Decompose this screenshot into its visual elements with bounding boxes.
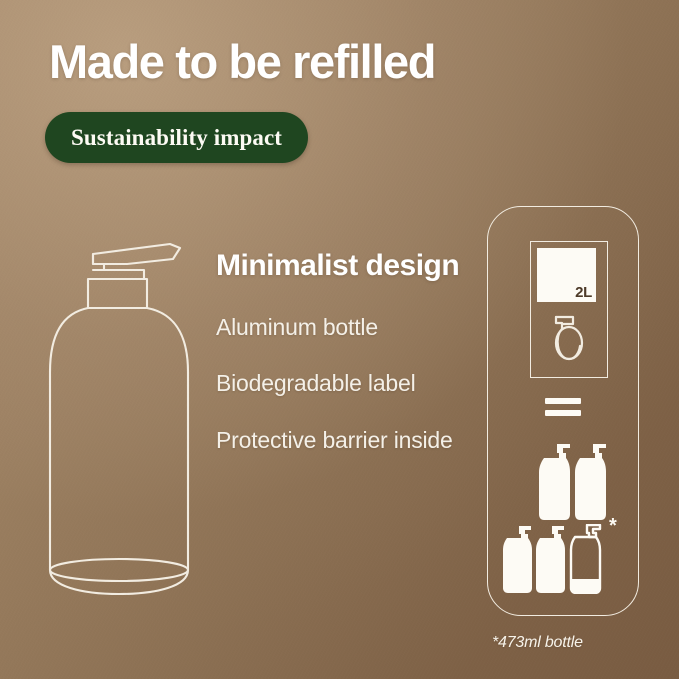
feature-item-biodegradable-label: Biodegradable label	[216, 369, 466, 397]
feature-list: Minimalist design Aluminum bottle Biodeg…	[216, 248, 466, 454]
footnote-text: *473ml bottle	[492, 634, 583, 652]
equals-bar-top	[545, 398, 581, 404]
bottle-row-top	[539, 442, 607, 522]
bottle-filled-2	[536, 526, 565, 593]
refill-label-area: 2L	[537, 248, 596, 302]
pump-nozzle-icon	[549, 312, 589, 364]
bottle-group-top	[539, 442, 607, 522]
feature-item-protective-barrier: Protective barrier inside	[216, 426, 466, 454]
refill-comparison-panel: 2L	[487, 206, 639, 616]
infographic-canvas: Made to be refilled Sustainability impac…	[0, 0, 679, 679]
equals-bar-bottom	[545, 410, 581, 416]
equals-symbol	[545, 398, 581, 416]
refill-volume-text: 2L	[575, 284, 592, 301]
pump-bottle-icon	[42, 222, 217, 600]
page-title: Made to be refilled	[49, 37, 569, 88]
feature-list-title: Minimalist design	[216, 248, 466, 283]
refill-pouch-graphic: 2L	[530, 241, 608, 378]
asterisk-marker: *	[609, 516, 617, 536]
bottle-filled-1	[503, 526, 532, 593]
status-badge-label: Sustainability impact	[71, 125, 282, 151]
status-badge: Sustainability impact	[45, 112, 308, 163]
feature-item-aluminum-bottle: Aluminum bottle	[216, 313, 466, 341]
bottle-group-bottom	[503, 524, 622, 594]
bottle-partial-3	[571, 525, 600, 593]
bottle-row-bottom	[503, 524, 622, 594]
pump-bottle-illustration	[42, 222, 217, 600]
